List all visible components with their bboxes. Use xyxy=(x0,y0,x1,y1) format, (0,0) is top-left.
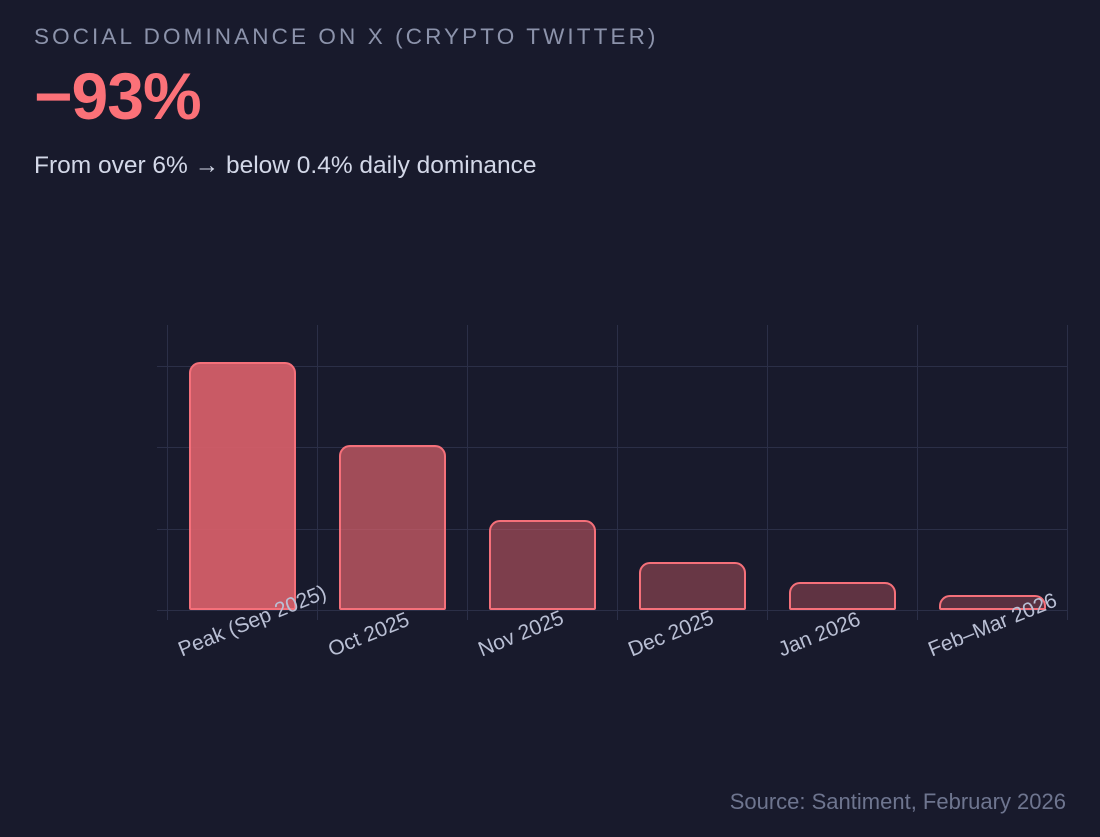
x-axis-tick-label: Feb–Mar 2026 xyxy=(925,589,1061,662)
gridline-horizontal xyxy=(157,366,1067,367)
gridline-vertical xyxy=(767,325,768,620)
bar[interactable] xyxy=(639,562,746,610)
plot-area: 0%2%4%6%Peak (Sep 2025)Oct 2025Nov 2025D… xyxy=(167,325,1067,610)
chart-eyebrow-title: SOCIAL DOMINANCE ON X (CRYPTO TWITTER) xyxy=(34,24,1064,50)
gridline-vertical xyxy=(317,325,318,620)
gridline-vertical xyxy=(617,325,618,620)
gridline-horizontal xyxy=(157,610,1067,611)
x-axis-tick-label: Dec 2025 xyxy=(625,606,717,662)
gridline-horizontal xyxy=(157,529,1067,530)
headline-metric: −93% xyxy=(34,65,1064,128)
gridline-horizontal xyxy=(157,447,1067,448)
bar[interactable] xyxy=(189,362,296,610)
header-block: SOCIAL DOMINANCE ON X (CRYPTO TWITTER) −… xyxy=(34,24,1064,180)
x-axis-tick-label: Jan 2026 xyxy=(775,608,864,663)
bar[interactable] xyxy=(339,445,446,610)
bar[interactable] xyxy=(789,582,896,610)
source-attribution: Source: Santiment, February 2026 xyxy=(730,789,1066,815)
bar[interactable] xyxy=(489,520,596,610)
gridline-vertical xyxy=(1067,325,1068,620)
x-axis-tick-label: Peak (Sep 2025) xyxy=(175,581,330,662)
gridline-vertical xyxy=(167,325,168,620)
x-axis-tick-label: Nov 2025 xyxy=(475,606,567,662)
x-axis-tick-label: Oct 2025 xyxy=(325,608,413,662)
gridline-vertical xyxy=(917,325,918,620)
headline-subtitle: From over 6% → below 0.4% daily dominanc… xyxy=(34,152,1064,180)
bar[interactable] xyxy=(939,595,1046,610)
gridline-vertical xyxy=(467,325,468,620)
